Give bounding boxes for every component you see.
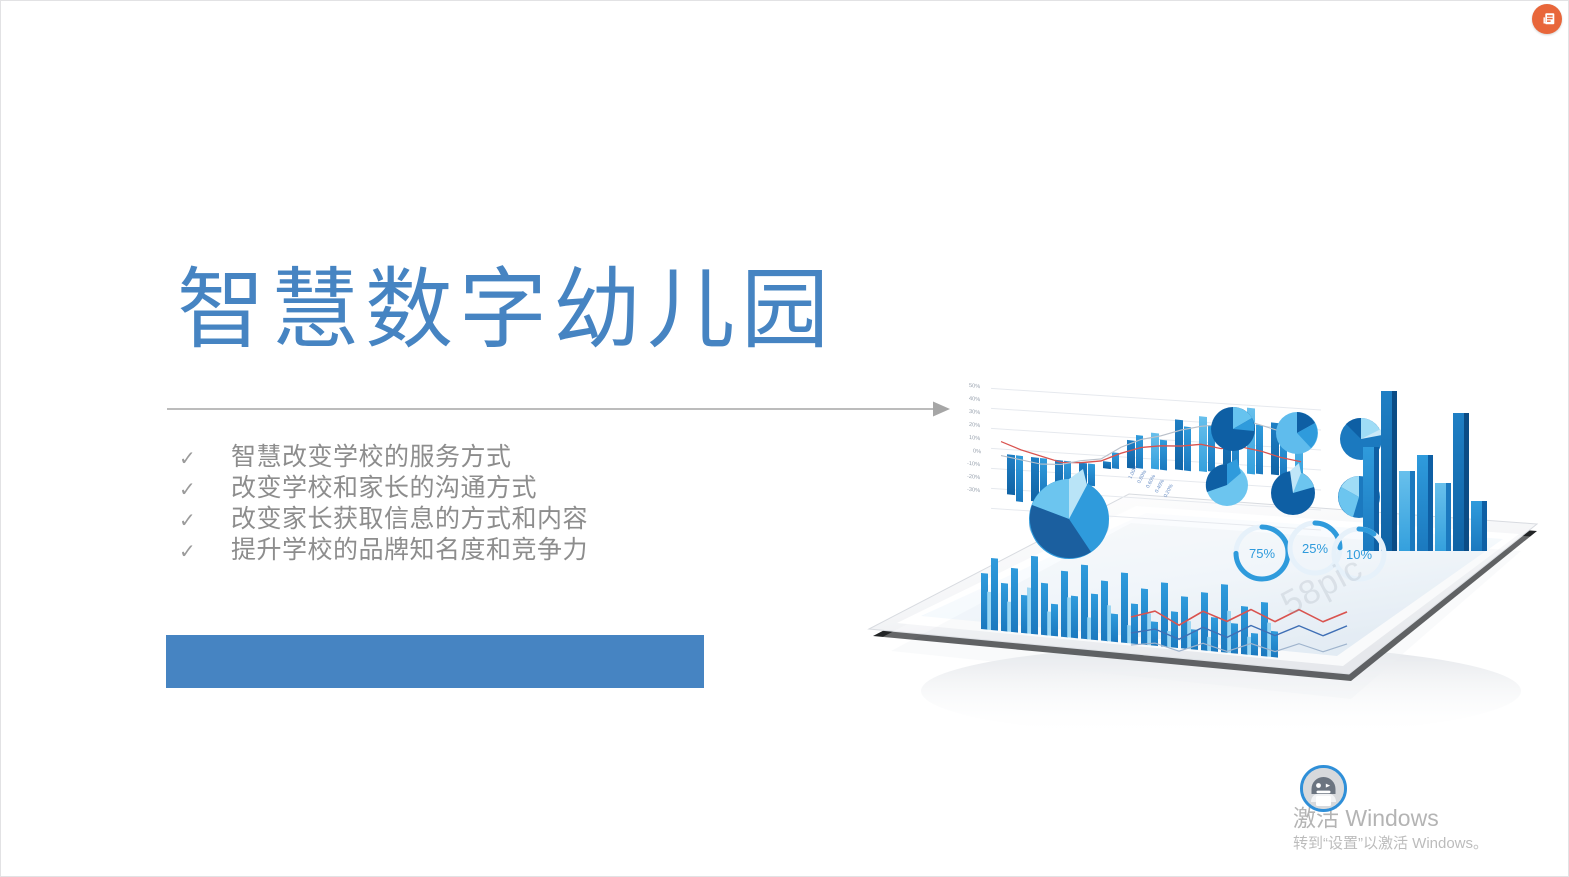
presentation-convert-icon[interactable] xyxy=(1532,4,1562,34)
svg-text:10%: 10% xyxy=(969,435,980,442)
bullet-text: 改变家长获取信息的方式和内容 xyxy=(231,504,588,535)
bullet-text: 改变学校和家长的沟通方式 xyxy=(231,473,537,504)
bullet-list: ✓ 智慧改变学校的服务方式 ✓ 改变学校和家长的沟通方式 ✓ 改变家长获取信息的… xyxy=(179,442,588,566)
svg-text:-10%: -10% xyxy=(967,461,980,468)
windows-activation-watermark: 激活 Windows 转到“设置”以激活 Windows。 xyxy=(1293,805,1563,854)
svg-text:40%: 40% xyxy=(969,396,980,403)
svg-text:25%: 25% xyxy=(1302,541,1328,556)
list-item: ✓ 提升学校的品牌知名度和竞争力 xyxy=(179,535,588,566)
svg-text:30%: 30% xyxy=(969,409,980,416)
svg-text:10%: 10% xyxy=(1346,547,1372,562)
robot-avatar-icon xyxy=(1300,765,1347,812)
svg-text:0%: 0% xyxy=(973,448,981,455)
check-icon: ✓ xyxy=(179,444,231,475)
accent-block xyxy=(166,635,704,688)
list-item: ✓ 改变学校和家长的沟通方式 xyxy=(179,473,588,504)
bullet-text: 提升学校的品牌知名度和竞争力 xyxy=(231,535,588,566)
svg-text:20%: 20% xyxy=(969,422,980,429)
list-item: ✓ 改变家长获取信息的方式和内容 xyxy=(179,504,588,535)
svg-text:0.20%: 0.20% xyxy=(1163,483,1175,499)
slide-title: 智慧数字幼儿园 xyxy=(177,265,835,355)
bullet-text: 智慧改变学校的服务方式 xyxy=(231,442,512,473)
check-icon: ✓ xyxy=(179,475,231,506)
activation-subtitle: 转到“设置”以激活 Windows。 xyxy=(1293,834,1563,854)
svg-text:50%: 50% xyxy=(969,383,980,390)
check-icon: ✓ xyxy=(179,537,231,568)
tablet-data-analytics-illustration: 50% 40% 30% 20% 10% 0% -10% -20% -30% xyxy=(831,351,1569,771)
svg-text:-20%: -20% xyxy=(967,474,980,481)
svg-text:75%: 75% xyxy=(1249,546,1275,561)
check-icon: ✓ xyxy=(179,506,231,537)
list-item: ✓ 智慧改变学校的服务方式 xyxy=(179,442,588,473)
presentation-slide: 智慧数字幼儿园 ✓ 智慧改变学校的服务方式 ✓ 改变学校和家长的沟通方式 ✓ 改… xyxy=(0,0,1569,877)
svg-text:-30%: -30% xyxy=(967,487,980,494)
